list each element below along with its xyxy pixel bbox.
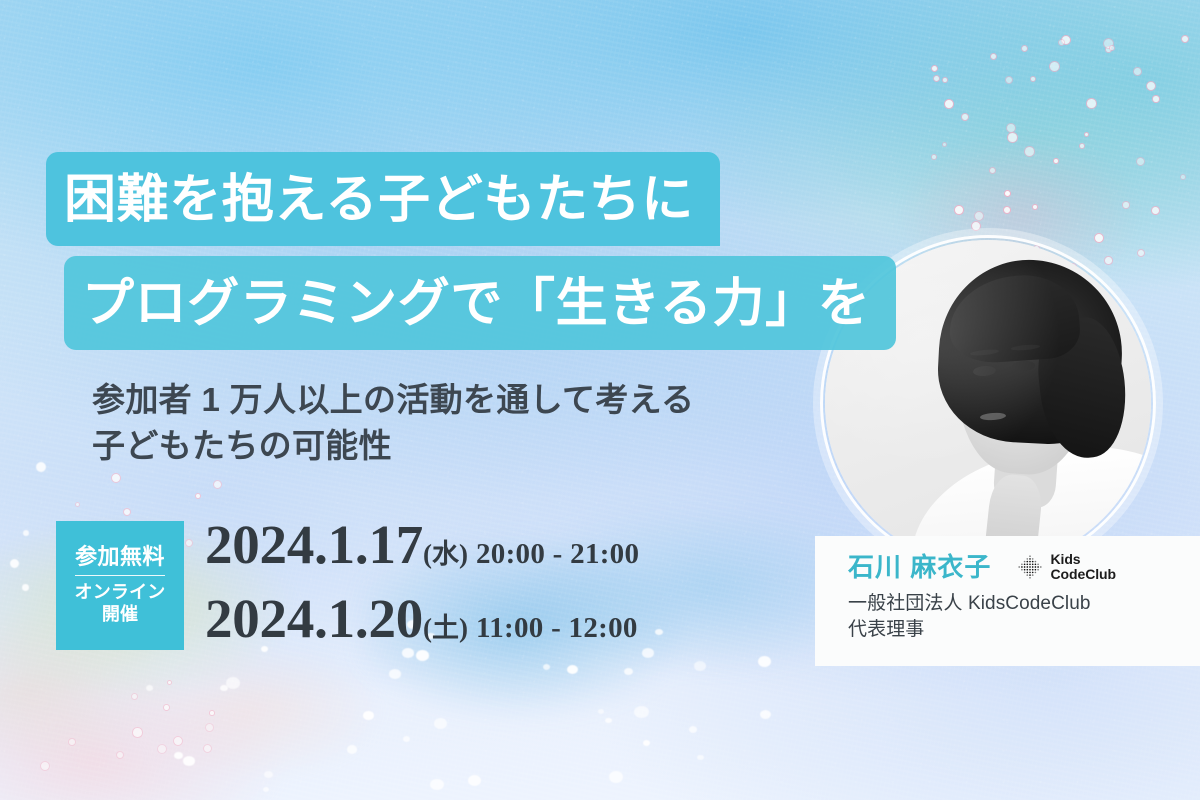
pink-speckle	[1003, 206, 1011, 214]
pink-speckle	[942, 77, 948, 83]
white-speckle	[689, 726, 697, 733]
white-speckle	[624, 668, 633, 675]
badge-free-label: 参加無料	[75, 545, 165, 569]
pink-speckle	[209, 710, 215, 716]
white-speckle	[697, 755, 704, 760]
speaker-organization: 一般社団法人 KidsCodeClub 代表理事	[848, 591, 1200, 643]
badge-divider	[75, 575, 165, 576]
pink-speckle	[1024, 146, 1035, 157]
pink-speckle	[1152, 95, 1160, 103]
white-speckle	[363, 711, 374, 720]
white-speckle	[758, 656, 771, 667]
event-date-1: 2024.1.17	[205, 514, 423, 575]
pink-speckle	[1058, 39, 1065, 46]
pink-speckle	[1122, 201, 1130, 209]
speaker-name: 石川 麻衣子	[848, 553, 991, 582]
pink-speckle	[68, 738, 76, 746]
title-line-1: 困難を抱える子どもたちに	[46, 152, 720, 246]
event-poster: 困難を抱える子どもたちに プログラミングで「生きる力」を 参加者 1 万人以上の…	[0, 0, 1200, 800]
pink-speckle	[205, 723, 214, 732]
white-speckle	[389, 669, 401, 679]
white-speckle	[609, 771, 623, 783]
white-speckle	[174, 752, 183, 759]
subtitle-text: 参加者 1 万人以上の活動を通して考える 子どもたちの可能性	[92, 377, 694, 469]
speaker-card-header: 石川 麻衣子 Kids CodeClub	[848, 552, 1200, 582]
pink-speckle	[1181, 35, 1189, 43]
pink-speckle	[1151, 206, 1160, 215]
event-date-row: 2024.1.20(土)11:00 - 12:00	[205, 591, 639, 646]
pink-speckle	[1005, 76, 1013, 84]
title-banner: 困難を抱える子どもたちに プログラミングで「生きる力」を	[46, 152, 720, 246]
white-speckle	[634, 706, 649, 718]
event-dow-1: (水)	[423, 539, 468, 569]
white-speckle	[434, 718, 447, 729]
white-speckle	[22, 584, 29, 591]
pink-speckle	[931, 154, 937, 160]
white-speckle	[403, 736, 410, 742]
logo-wordmark: Kids CodeClub	[1050, 552, 1116, 582]
white-speckle	[226, 677, 240, 689]
pink-speckle	[1086, 98, 1097, 109]
white-speckle	[694, 661, 706, 671]
event-time-1: 20:00 - 21:00	[476, 538, 639, 570]
pink-speckle	[1007, 132, 1018, 143]
pink-speckle	[961, 113, 969, 121]
pink-speckle	[1133, 67, 1142, 76]
dot-matrix-icon	[1017, 554, 1043, 580]
pink-speckle	[131, 693, 138, 700]
event-time-2: 11:00 - 12:00	[476, 612, 638, 644]
white-speckle	[23, 530, 29, 536]
white-speckle	[643, 740, 650, 746]
pink-speckle	[1180, 174, 1186, 180]
white-speckle	[347, 745, 357, 754]
pink-speckle	[1053, 158, 1059, 164]
pink-speckle	[954, 205, 964, 215]
event-dates: 2024.1.17(水)20:00 - 21:00 2024.1.20(土)11…	[205, 517, 639, 665]
title-line-2: プログラミングで「生きる力」を	[64, 256, 896, 350]
kidscodeclub-logo: Kids CodeClub	[1017, 552, 1116, 582]
white-speckle	[430, 779, 444, 790]
white-speckle	[655, 629, 663, 635]
free-online-badge: 参加無料 オンライン 開催	[56, 521, 184, 650]
pink-speckle	[1079, 143, 1085, 149]
badge-online-label: オンライン 開催	[75, 582, 166, 626]
pink-speckle	[123, 508, 131, 516]
pink-speckle	[163, 704, 170, 711]
pink-speckle	[944, 99, 954, 109]
event-dow-2: (土)	[423, 613, 468, 643]
speaker-info-card: 石川 麻衣子 Kids CodeClub 一般社団法人 KidsCodeClub…	[815, 536, 1200, 666]
event-date-row: 2024.1.17(水)20:00 - 21:00	[205, 517, 639, 572]
pink-speckle	[1109, 45, 1115, 51]
event-date-2: 2024.1.20	[205, 588, 423, 649]
white-speckle	[605, 718, 612, 723]
pink-speckle	[933, 75, 940, 82]
pink-speckle	[1049, 61, 1060, 72]
pink-speckle	[132, 727, 143, 738]
